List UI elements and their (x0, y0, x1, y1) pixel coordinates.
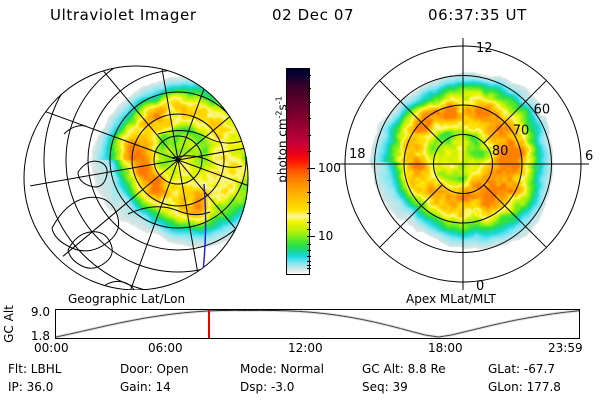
colorbar-major-tick (307, 168, 315, 169)
colorbar-minor-tick (307, 265, 311, 266)
colorbar-minor-tick (307, 75, 311, 76)
mlat-label-60: 60 (534, 102, 551, 117)
magnetic-aurora-panel[interactable]: 126018607080 (330, 38, 596, 290)
colorbar-minor-tick (307, 135, 311, 136)
colorbar-minor-tick (307, 229, 311, 230)
coastline (78, 161, 107, 187)
colorbar-major-tick (307, 236, 315, 237)
meridian-line (127, 160, 178, 290)
mlt-label-18: 18 (349, 147, 366, 162)
colorbar-minor-tick (307, 192, 311, 193)
colorbar-minor-tick (307, 213, 311, 214)
coastline (52, 197, 119, 251)
colorbar-ticks: 10010 (307, 67, 329, 274)
strip-xtick-label: 23:59 (548, 341, 583, 355)
mlt-label-12: 12 (476, 41, 493, 56)
strip-ytick-high: 9.0 (16, 305, 50, 319)
colorbar-minor-tick (307, 88, 311, 89)
latitude-circle (66, 48, 266, 272)
meridian-line (152, 38, 178, 160)
magnetic-graticule: 126018607080 (330, 38, 596, 290)
colorbar-minor-tick (307, 118, 311, 119)
colorbar: photon cm-2s-1 10010 (264, 60, 328, 290)
header: Ultraviolet Imager 02 Dec 07 06:37:35 UT (0, 6, 600, 28)
colorbar-minor-tick (307, 256, 311, 257)
status-field: Gain: 14 (120, 380, 171, 394)
colorbar-minor-tick (307, 151, 311, 152)
colorbar-minor-tick (307, 250, 311, 251)
mlt-spoke-diagonal (380, 81, 443, 144)
status-field: Flt: LBHL (8, 362, 61, 376)
meridian-line (178, 38, 229, 160)
colorbar-minor-tick (307, 180, 311, 181)
mlt-label-0: 0 (476, 279, 484, 290)
observation-date: 02 Dec 07 (272, 6, 354, 24)
colorbar-gradient (287, 69, 309, 274)
observation-time: 06:37:35 UT (428, 6, 527, 24)
mlat-label-70: 70 (513, 123, 530, 138)
mlt-label-6: 6 (585, 149, 593, 164)
colorbar-minor-tick (307, 202, 311, 203)
status-field: GC Alt: 8.8 Re (362, 362, 446, 376)
strip-xtick-label: 06:00 (148, 341, 183, 355)
status-field: Mode: Normal (240, 362, 324, 376)
strip-plot-box[interactable] (55, 309, 580, 339)
status-field: Seq: 39 (362, 380, 408, 394)
colorbar-unit-exp2: -1 (275, 96, 284, 104)
mlt-spoke-diagonal (484, 185, 547, 248)
status-field: GLon: 177.8 (488, 380, 561, 394)
status-bar: Flt: LBHLDoor: OpenMode: NormalGC Alt: 8… (0, 362, 600, 400)
strip-xtick-label: 00:00 (34, 341, 69, 355)
mlat-label-80: 80 (492, 144, 509, 159)
strip-xtick-label: 12:00 (288, 341, 323, 355)
status-field: Dsp: -3.0 (240, 380, 294, 394)
strip-y-axis-label: GC Alt (2, 301, 16, 347)
colorbar-minor-tick (307, 102, 311, 103)
geographic-aurora-panel[interactable] (8, 38, 266, 290)
mlt-spoke-diagonal (380, 185, 443, 248)
altitude-curve (56, 310, 579, 338)
colorbar-minor-tick (307, 261, 311, 262)
meridian-line (178, 160, 266, 275)
current-time-marker[interactable] (208, 310, 210, 338)
status-field: IP: 36.0 (8, 380, 53, 394)
strip-xtick-label: 18:00 (428, 341, 463, 355)
instrument-title: Ultraviolet Imager (50, 6, 197, 24)
coastline (64, 126, 86, 134)
colorbar-minor-tick (307, 244, 311, 245)
colorbar-minor-tick (307, 222, 311, 223)
uvi-display: Ultraviolet Imager 02 Dec 07 06:37:35 UT… (0, 0, 600, 400)
status-field: Door: Open (120, 362, 189, 376)
colorbar-minor-tick (307, 268, 311, 269)
colorbar-unit-exp1: -2 (275, 110, 284, 118)
status-field: GLat: -67.7 (488, 362, 555, 376)
geographic-graticule (8, 38, 266, 290)
orbit-altitude-strip[interactable]: GC Alt 9.0 1.8 00:0006:0012:0018:0023:59 (0, 303, 600, 355)
coastline (128, 207, 210, 215)
